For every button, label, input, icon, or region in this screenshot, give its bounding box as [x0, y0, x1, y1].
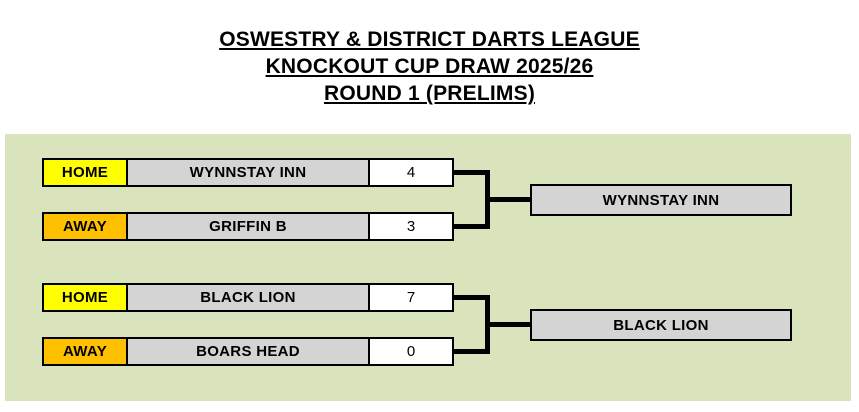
team-name: BLACK LION [128, 283, 368, 312]
away-tag: AWAY [42, 337, 128, 366]
score-box: 4 [368, 158, 454, 187]
score-box: 3 [368, 212, 454, 241]
title-line-league: OSWESTRY & DISTRICT DARTS LEAGUE [0, 26, 859, 53]
winner-box: WYNNSTAY INN [530, 184, 792, 216]
team-name: GRIFFIN B [128, 212, 368, 241]
connector-line-stem [485, 322, 533, 327]
bracket-panel: HOME WYNNSTAY INN 4 AWAY GRIFFIN B 3 WYN… [5, 134, 851, 401]
score-box: 0 [368, 337, 454, 366]
team-name: WYNNSTAY INN [128, 158, 368, 187]
match-row: HOME BLACK LION 7 [42, 283, 454, 312]
home-tag: HOME [42, 283, 128, 312]
connector-line-stem [485, 197, 533, 202]
match-row: HOME WYNNSTAY INN 4 [42, 158, 454, 187]
winner-box: BLACK LION [530, 309, 792, 341]
title-line-competition: KNOCKOUT CUP DRAW 2025/26 [0, 53, 859, 80]
team-name: BOARS HEAD [128, 337, 368, 366]
score-box: 7 [368, 283, 454, 312]
match-row: AWAY BOARS HEAD 0 [42, 337, 454, 366]
home-tag: HOME [42, 158, 128, 187]
match-row: AWAY GRIFFIN B 3 [42, 212, 454, 241]
away-tag: AWAY [42, 212, 128, 241]
title-line-round: ROUND 1 (PRELIMS) [0, 80, 859, 107]
page-title: OSWESTRY & DISTRICT DARTS LEAGUE KNOCKOU… [0, 26, 859, 107]
